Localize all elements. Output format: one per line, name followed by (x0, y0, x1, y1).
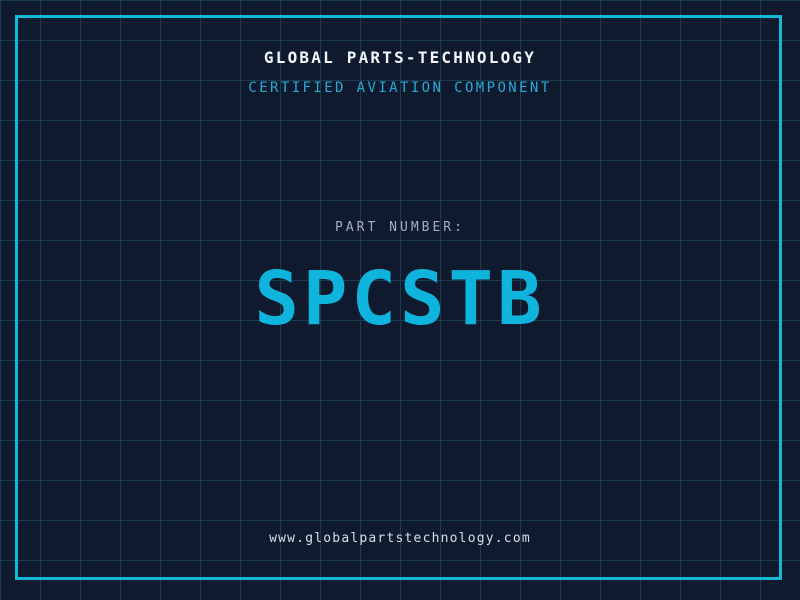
company-name: GLOBAL PARTS-TECHNOLOGY (0, 48, 800, 67)
part-number-label: PART NUMBER: (0, 220, 800, 235)
card-content: GLOBAL PARTS-TECHNOLOGY CERTIFIED AVIATI… (0, 0, 800, 600)
certification-subtitle: CERTIFIED AVIATION COMPONENT (0, 80, 800, 96)
website-url: www.globalpartstechnology.com (0, 531, 800, 546)
part-number-card: GLOBAL PARTS-TECHNOLOGY CERTIFIED AVIATI… (0, 0, 800, 600)
part-number-value: SPCSTB (0, 262, 800, 336)
